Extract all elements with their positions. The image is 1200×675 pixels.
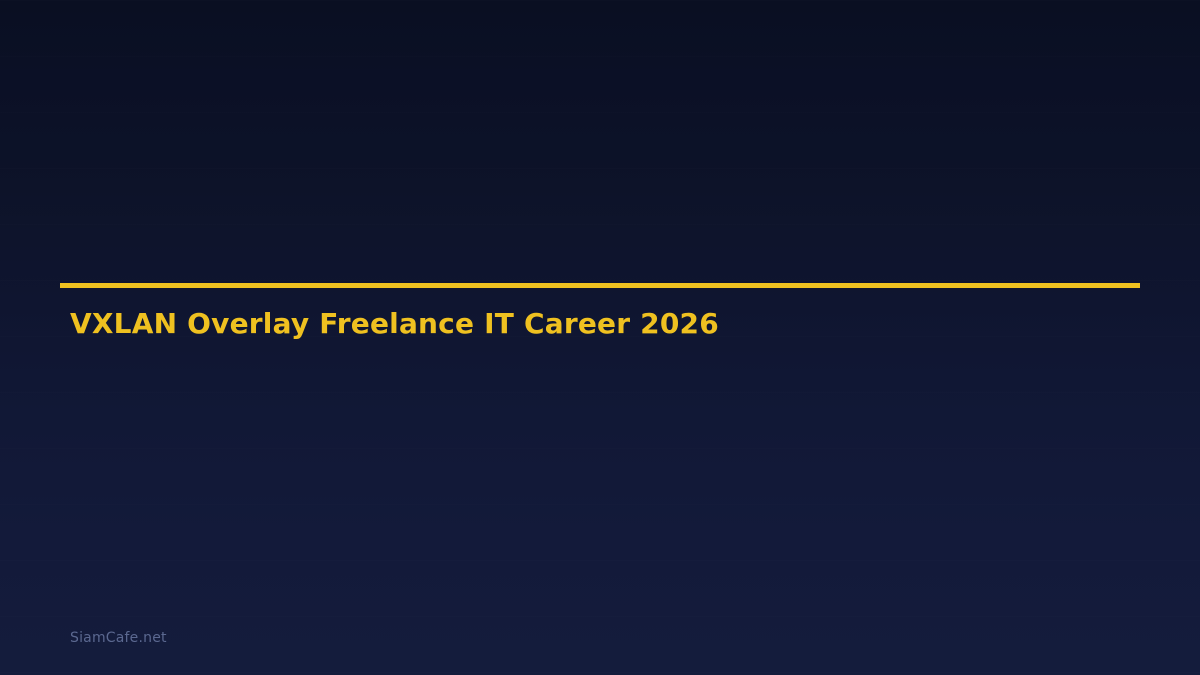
watermark-label: SiamCafe.net bbox=[70, 630, 167, 647]
accent-rule bbox=[60, 283, 1140, 288]
title-slide: VXLAN Overlay Freelance IT Career 2026 S… bbox=[0, 0, 1200, 675]
title-block: VXLAN Overlay Freelance IT Career 2026 bbox=[60, 283, 1140, 288]
page-title: VXLAN Overlay Freelance IT Career 2026 bbox=[70, 307, 719, 341]
